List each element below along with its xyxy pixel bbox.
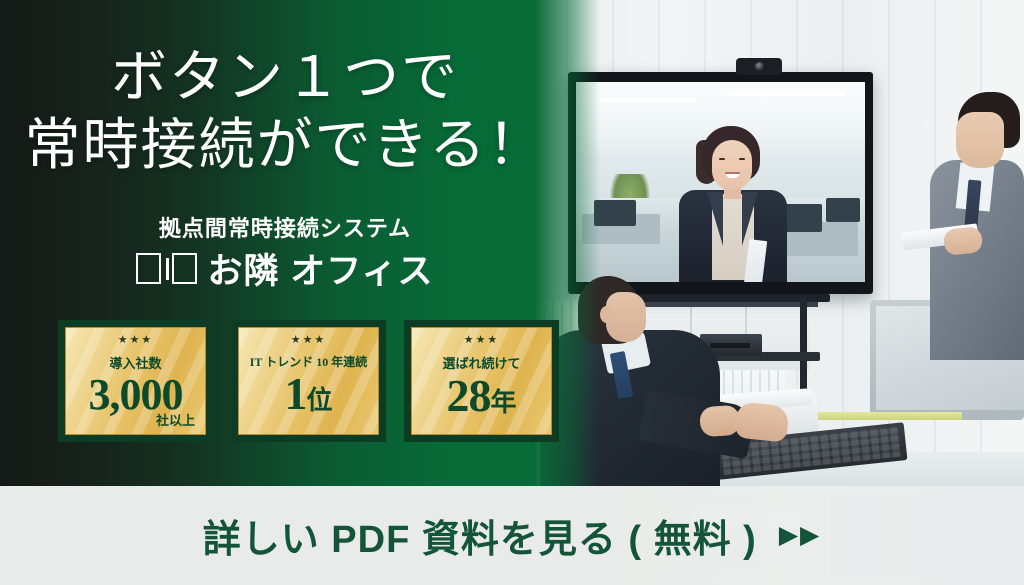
remote-monitor <box>594 200 636 226</box>
product-name-label: お隣 オフィス <box>207 243 433 294</box>
remote-monitor <box>826 198 860 222</box>
badge-value-unit: 位 <box>306 386 332 415</box>
missing-glyph-box-icon <box>136 253 161 284</box>
badge-face: ★★★ 選ばれ続けて 28年 <box>411 327 552 435</box>
cta-label[interactable]: 詳しい PDF 資料を見る ( 無料 ) <box>203 508 757 563</box>
seated-person-hand <box>699 405 741 438</box>
badge-face: ★★★ 導入社数 3,000 社以上 <box>65 327 206 435</box>
jacket-lapel-right <box>742 192 758 246</box>
badge-face: ★★★ IT トレンド 10 年連続 1位 <box>238 327 379 435</box>
standing-person-face <box>956 112 1004 168</box>
display-stand-top <box>612 294 830 302</box>
display-stand-rail <box>622 302 818 307</box>
webcam-icon <box>736 58 782 75</box>
missing-glyph-bar-icon <box>166 258 169 280</box>
remote-person-face <box>712 140 752 190</box>
eye <box>739 158 745 160</box>
badge-years-chosen: ★★★ 選ばれ続けて 28年 <box>404 320 559 442</box>
stars-icon: ★★★ <box>118 335 154 346</box>
jacket-lapel-left <box>707 192 723 246</box>
stars-icon: ★★★ <box>291 335 327 346</box>
eye <box>719 158 725 160</box>
badge-value: 28年 <box>446 373 516 419</box>
missing-glyph-box-icon <box>172 253 197 284</box>
badge-value-number: 28 <box>446 370 490 421</box>
hero-headline: ボタン１つで 常時接続ができる！ <box>0 44 570 181</box>
desk-shelf <box>812 412 962 420</box>
seated-person-ear <box>600 306 613 323</box>
hero-subtitle: 拠点間常時接続システム <box>0 211 570 243</box>
badge-sub-label: 社以上 <box>156 410 195 429</box>
badge-it-trend-rank: ★★★ IT トレンド 10 年連続 1位 <box>231 320 386 442</box>
badge-top-label: IT トレンド 10 年連続 <box>250 353 367 370</box>
award-badges: ★★★ 導入社数 3,000 社以上 ★★★ IT トレンド 10 年連続 1位… <box>58 320 559 442</box>
badge-install-count: ★★★ 導入社数 3,000 社以上 <box>58 320 213 442</box>
headline-line-2: 常時接続ができる！ <box>0 112 570 180</box>
ceiling-light <box>726 92 846 96</box>
headline-line-1: ボタン１つで <box>0 44 570 112</box>
double-arrow-right-icon[interactable]: ▶▶ <box>779 523 821 548</box>
cta-bar[interactable]: 詳しい PDF 資料を見る ( 無料 ) ▶▶ <box>0 486 1024 585</box>
stars-icon: ★★★ <box>464 335 500 346</box>
product-name: お隣 オフィス <box>0 243 570 294</box>
ceiling-light <box>600 98 696 102</box>
badge-value: 1位 <box>284 371 332 417</box>
video-conference-display <box>568 72 873 294</box>
badge-value-unit: 年 <box>490 388 516 417</box>
cta-content[interactable]: 詳しい PDF 資料を見る ( 無料 ) ▶▶ <box>0 486 1024 585</box>
hero-banner: ボタン１つで 常時接続ができる！ 拠点間常時接続システム お隣 オフィス ★★★… <box>0 0 1024 585</box>
badge-value-number: 1 <box>284 368 306 419</box>
display-screen <box>576 82 865 282</box>
